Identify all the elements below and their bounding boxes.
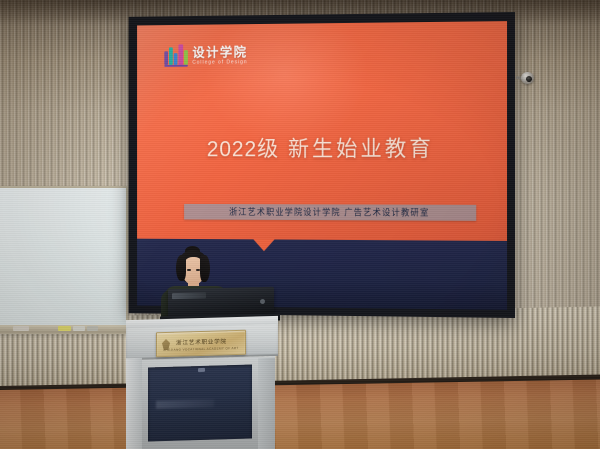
logo-wordmark: 设计学院 College of Design — [192, 45, 247, 66]
logo-name-cn: 设计学院 — [192, 45, 247, 58]
logo-bar-purple — [164, 52, 168, 66]
lectern-left-column — [126, 358, 142, 449]
nameplate-text-cn: 浙江艺术职业学院 — [176, 336, 227, 346]
nameplate-text-en: ZHEJIANG VOCATIONAL ACADEMY OF ART — [163, 345, 238, 351]
logo-bar-teal — [169, 48, 173, 66]
marker-white — [73, 326, 85, 331]
marker-yellow — [58, 326, 71, 331]
marker-gray — [87, 326, 98, 331]
stage-floor — [0, 380, 600, 449]
logo-name-en: College of Design — [192, 61, 247, 66]
lectern: 浙江艺术职业学院 ZHEJIANG VOCATIONAL ACADEMY OF … — [126, 318, 278, 449]
logo-bar-blue — [173, 53, 177, 65]
slide-headline-rest: 新生始业教育 — [288, 136, 434, 161]
logo-mark-icon — [164, 45, 188, 67]
logo-bar-magenta — [178, 45, 183, 65]
marker-eraser — [13, 326, 29, 331]
presenter-eye-left — [187, 269, 191, 271]
logo-bar-green — [184, 50, 188, 65]
lectern-nameplate: 浙江艺术职业学院 ZHEJIANG VOCATIONAL ACADEMY OF … — [156, 330, 246, 358]
lecture-hall-photo: 设计学院 College of Design 2022级 新生始业教育 浙江艺术… — [0, 0, 600, 449]
slide-headline: 2022级 新生始业教育 — [137, 131, 507, 163]
laptop-indicator-icon — [260, 299, 265, 304]
slide-subtitle-text: 浙江艺术职业学院设计学院 广告艺术设计教研室 — [229, 205, 429, 218]
slide-footer-notch — [253, 239, 274, 251]
lectern-panel-reflection — [156, 399, 214, 409]
camera-lens-icon — [526, 76, 532, 82]
laptop-bezel-strip — [172, 292, 206, 299]
lectern-panel-latch — [198, 368, 205, 372]
slide-headline-year: 2022级 — [207, 136, 279, 161]
presenter-eye-right — [196, 269, 200, 271]
presenter-hair-right — [200, 255, 210, 282]
college-logo: 设计学院 College of Design — [164, 44, 248, 66]
presenter-hair-left — [176, 255, 186, 281]
slide-subtitle-bar: 浙江艺术职业学院设计学院 广告艺术设计教研室 — [184, 203, 477, 220]
whiteboard — [0, 186, 128, 334]
lectern-right-column — [258, 358, 275, 449]
